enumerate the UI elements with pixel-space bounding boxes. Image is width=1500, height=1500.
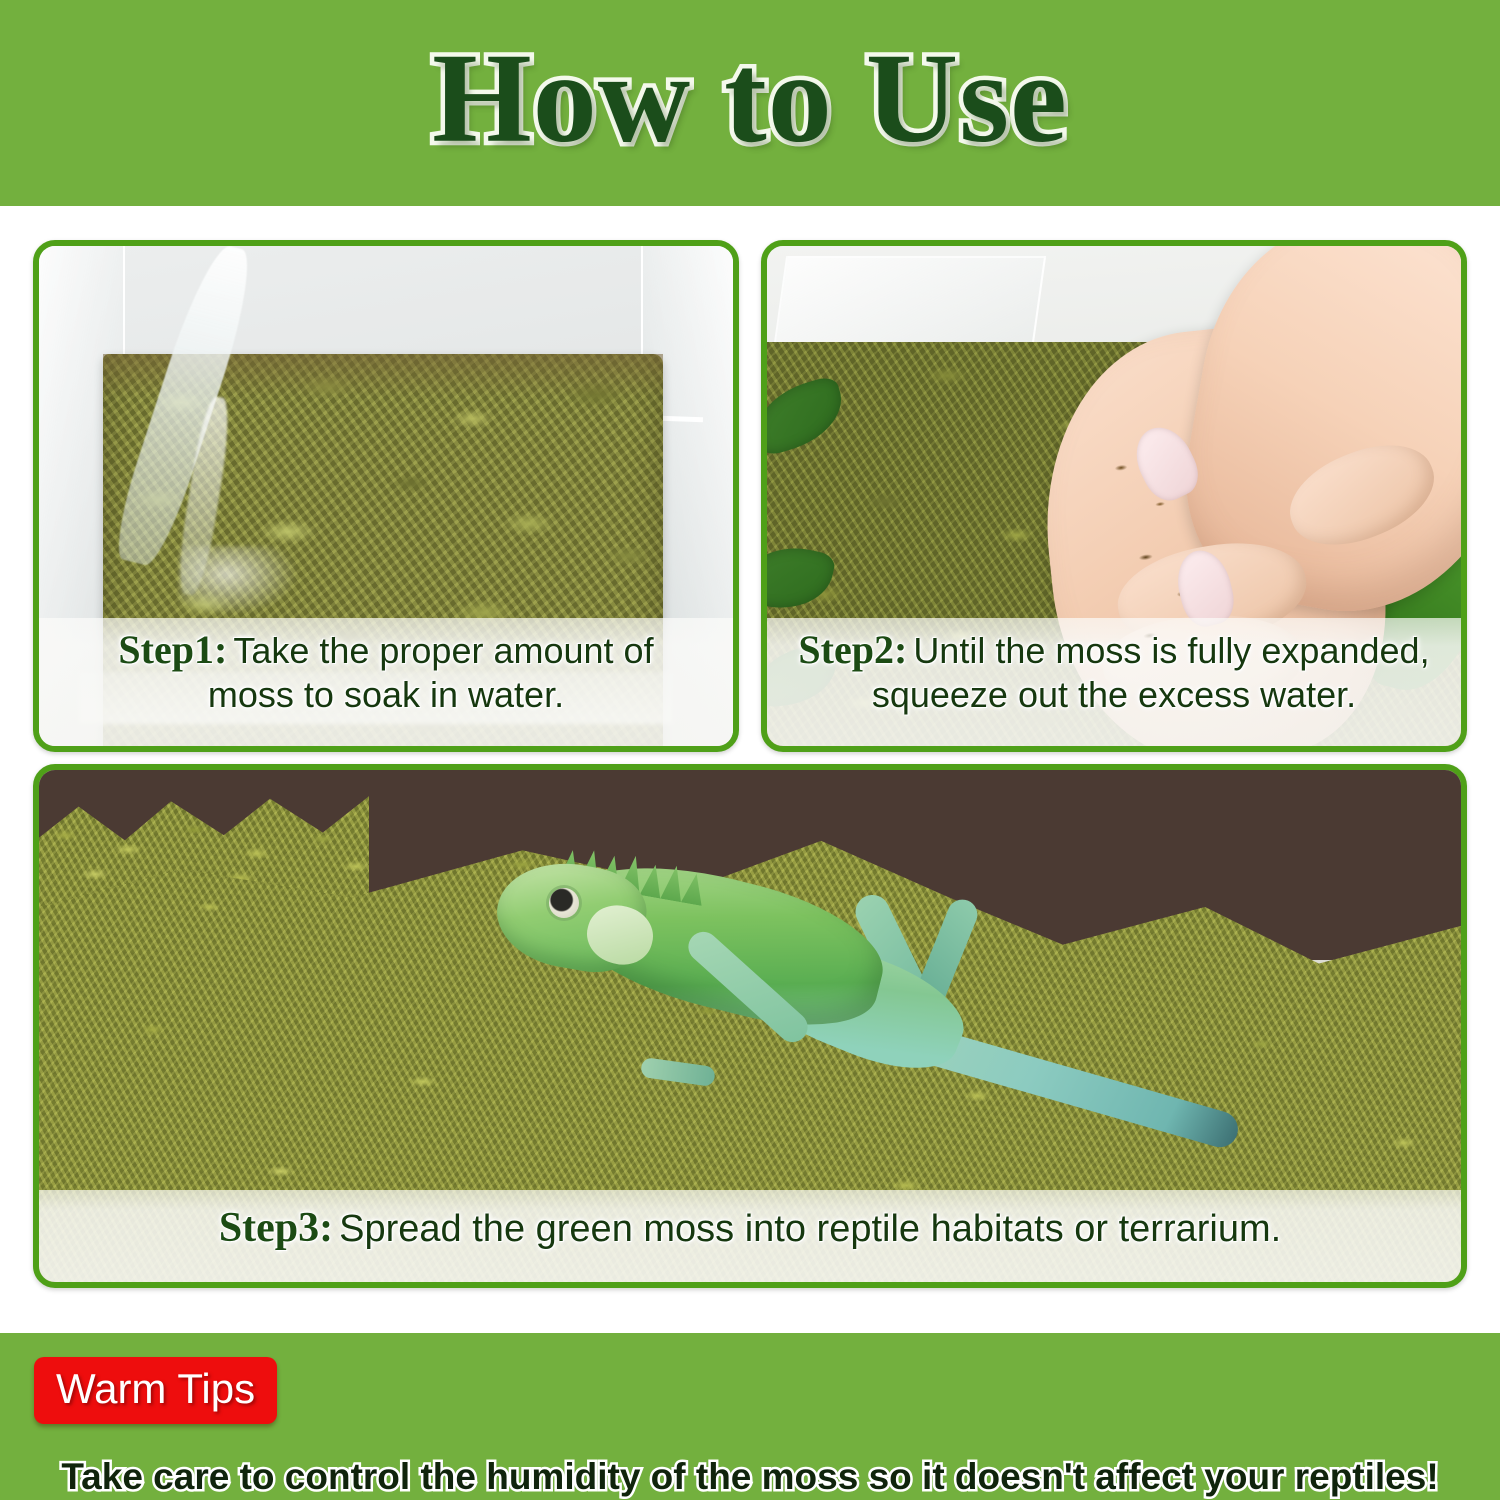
caption-line: moss to soak in water. <box>53 673 719 717</box>
caption-text: Take the proper amount of <box>233 630 653 671</box>
caption-line: squeeze out the excess water. <box>781 673 1447 717</box>
caption-text: Until the moss is fully expanded, <box>913 630 1429 671</box>
caption-text: Spread the green moss into reptile habit… <box>339 1208 1281 1250</box>
header-banner: How to Use <box>0 0 1500 206</box>
caption-line: Step1:Take the proper amount of <box>53 628 719 673</box>
step-2-caption: Step2:Until the moss is fully expanded, … <box>767 618 1461 746</box>
step-card-1: Step1:Take the proper amount of moss to … <box>33 240 739 752</box>
lizard-eye <box>549 888 579 918</box>
step-1-caption: Step1:Take the proper amount of moss to … <box>39 618 733 746</box>
step-card-3: Step3:Spread the green moss into reptile… <box>33 764 1467 1288</box>
warm-tips-badge: Warm Tips <box>34 1357 277 1424</box>
step-label: Step3: <box>219 1205 333 1251</box>
step-label: Step1: <box>118 627 227 672</box>
lizard-front-foot <box>640 1057 716 1087</box>
step-label: Step2: <box>798 627 907 672</box>
warm-tips-text: Take care to control the humidity of the… <box>0 1455 1500 1499</box>
lizard <box>491 840 1251 1170</box>
page-title: How to Use <box>432 34 1068 172</box>
warm-tips-band: Warm Tips Take care to control the humid… <box>0 1333 1500 1500</box>
step-3-caption: Step3:Spread the green moss into reptile… <box>39 1190 1461 1282</box>
caption-line: Step2:Until the moss is fully expanded, <box>781 628 1447 673</box>
caption-line: Step3:Spread the green moss into reptile… <box>53 1204 1447 1253</box>
step-card-2: Step2:Until the moss is fully expanded, … <box>761 240 1467 752</box>
